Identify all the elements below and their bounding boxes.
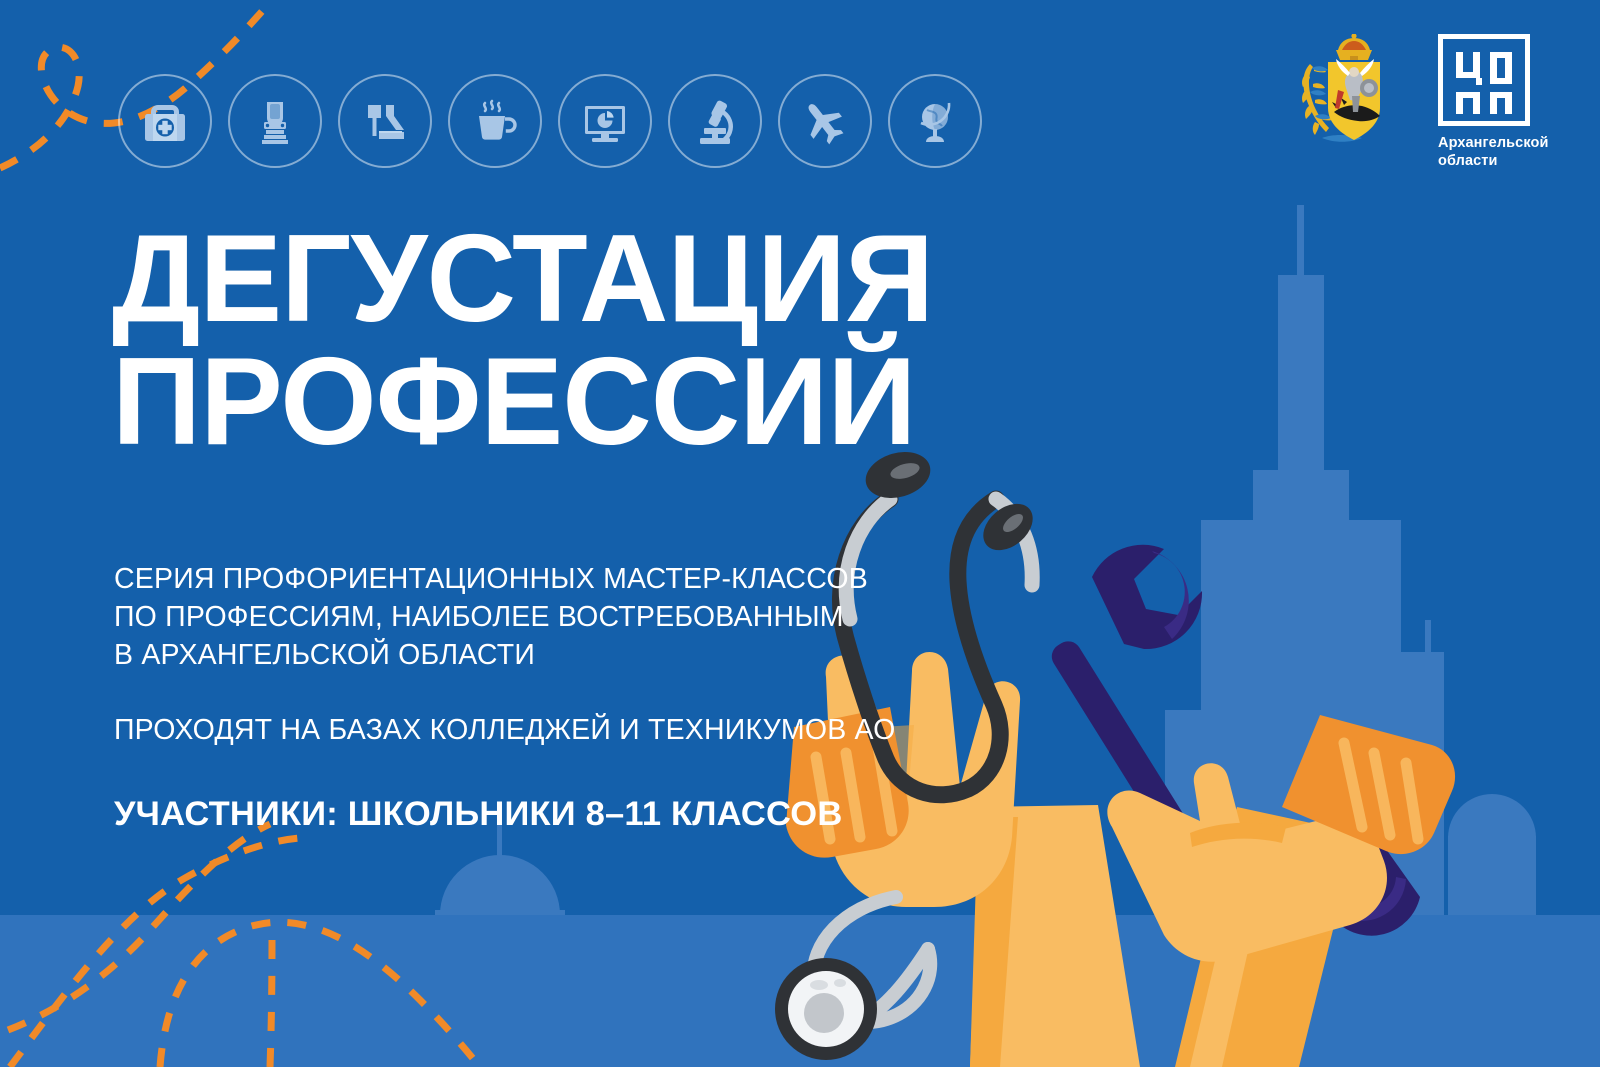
surveying-theodolite-icon [247, 93, 303, 149]
icon-badge-globe [888, 74, 982, 168]
icon-badge-airplane [778, 74, 872, 168]
page-title: ДЕГУСТАЦИЯ ПРОФЕССИЙ [112, 218, 933, 464]
medical-bag-icon [137, 93, 193, 149]
icon-badge-computer-chart [558, 74, 652, 168]
profession-icon-strip [118, 74, 982, 168]
icon-badge-construction-tools [338, 74, 432, 168]
copp-monogram-icon [1438, 34, 1530, 126]
microscope-icon [687, 93, 743, 149]
icon-badge-coffee-cup [448, 74, 542, 168]
icon-badge-medical-bag [118, 74, 212, 168]
logo-row: Архангельской области [1292, 34, 1558, 170]
poster-root: Архангельской области ДЕГУСТАЦИЯ ПРОФЕСС… [0, 0, 1600, 1067]
headline-line-2: ПРОФЕССИЙ [112, 341, 933, 464]
coffee-cup-icon [467, 93, 523, 149]
computer-chart-icon [577, 93, 633, 149]
headline-line-1: ДЕГУСТАЦИЯ [112, 218, 933, 341]
arkhangelsk-oblast-coat-of-arms [1292, 34, 1396, 166]
participants-line: УЧАСТНИКИ: ШКОЛЬНИКИ 8–11 КЛАССОВ [114, 795, 895, 834]
icon-badge-surveying-theodolite [228, 74, 322, 168]
copp-logo-caption: Архангельской области [1438, 135, 1558, 170]
description-block: СЕРИЯ ПРОФОРИЕНТАЦИОННЫХ МАСТЕР-КЛАССОВ … [114, 560, 895, 834]
airplane-icon [797, 93, 853, 149]
copp-logo: Архангельской области [1438, 34, 1558, 170]
description-paragraph-1: СЕРИЯ ПРОФОРИЕНТАЦИОННЫХ МАСТЕР-КЛАССОВ … [114, 560, 895, 675]
description-paragraph-2: ПРОХОДЯТ НА БАЗАХ КОЛЛЕДЖЕЙ И ТЕХНИКУМОВ… [114, 711, 895, 749]
construction-tools-icon [357, 93, 413, 149]
bottom-color-band [0, 915, 1600, 1067]
icon-badge-microscope [668, 74, 762, 168]
globe-icon [907, 93, 963, 149]
